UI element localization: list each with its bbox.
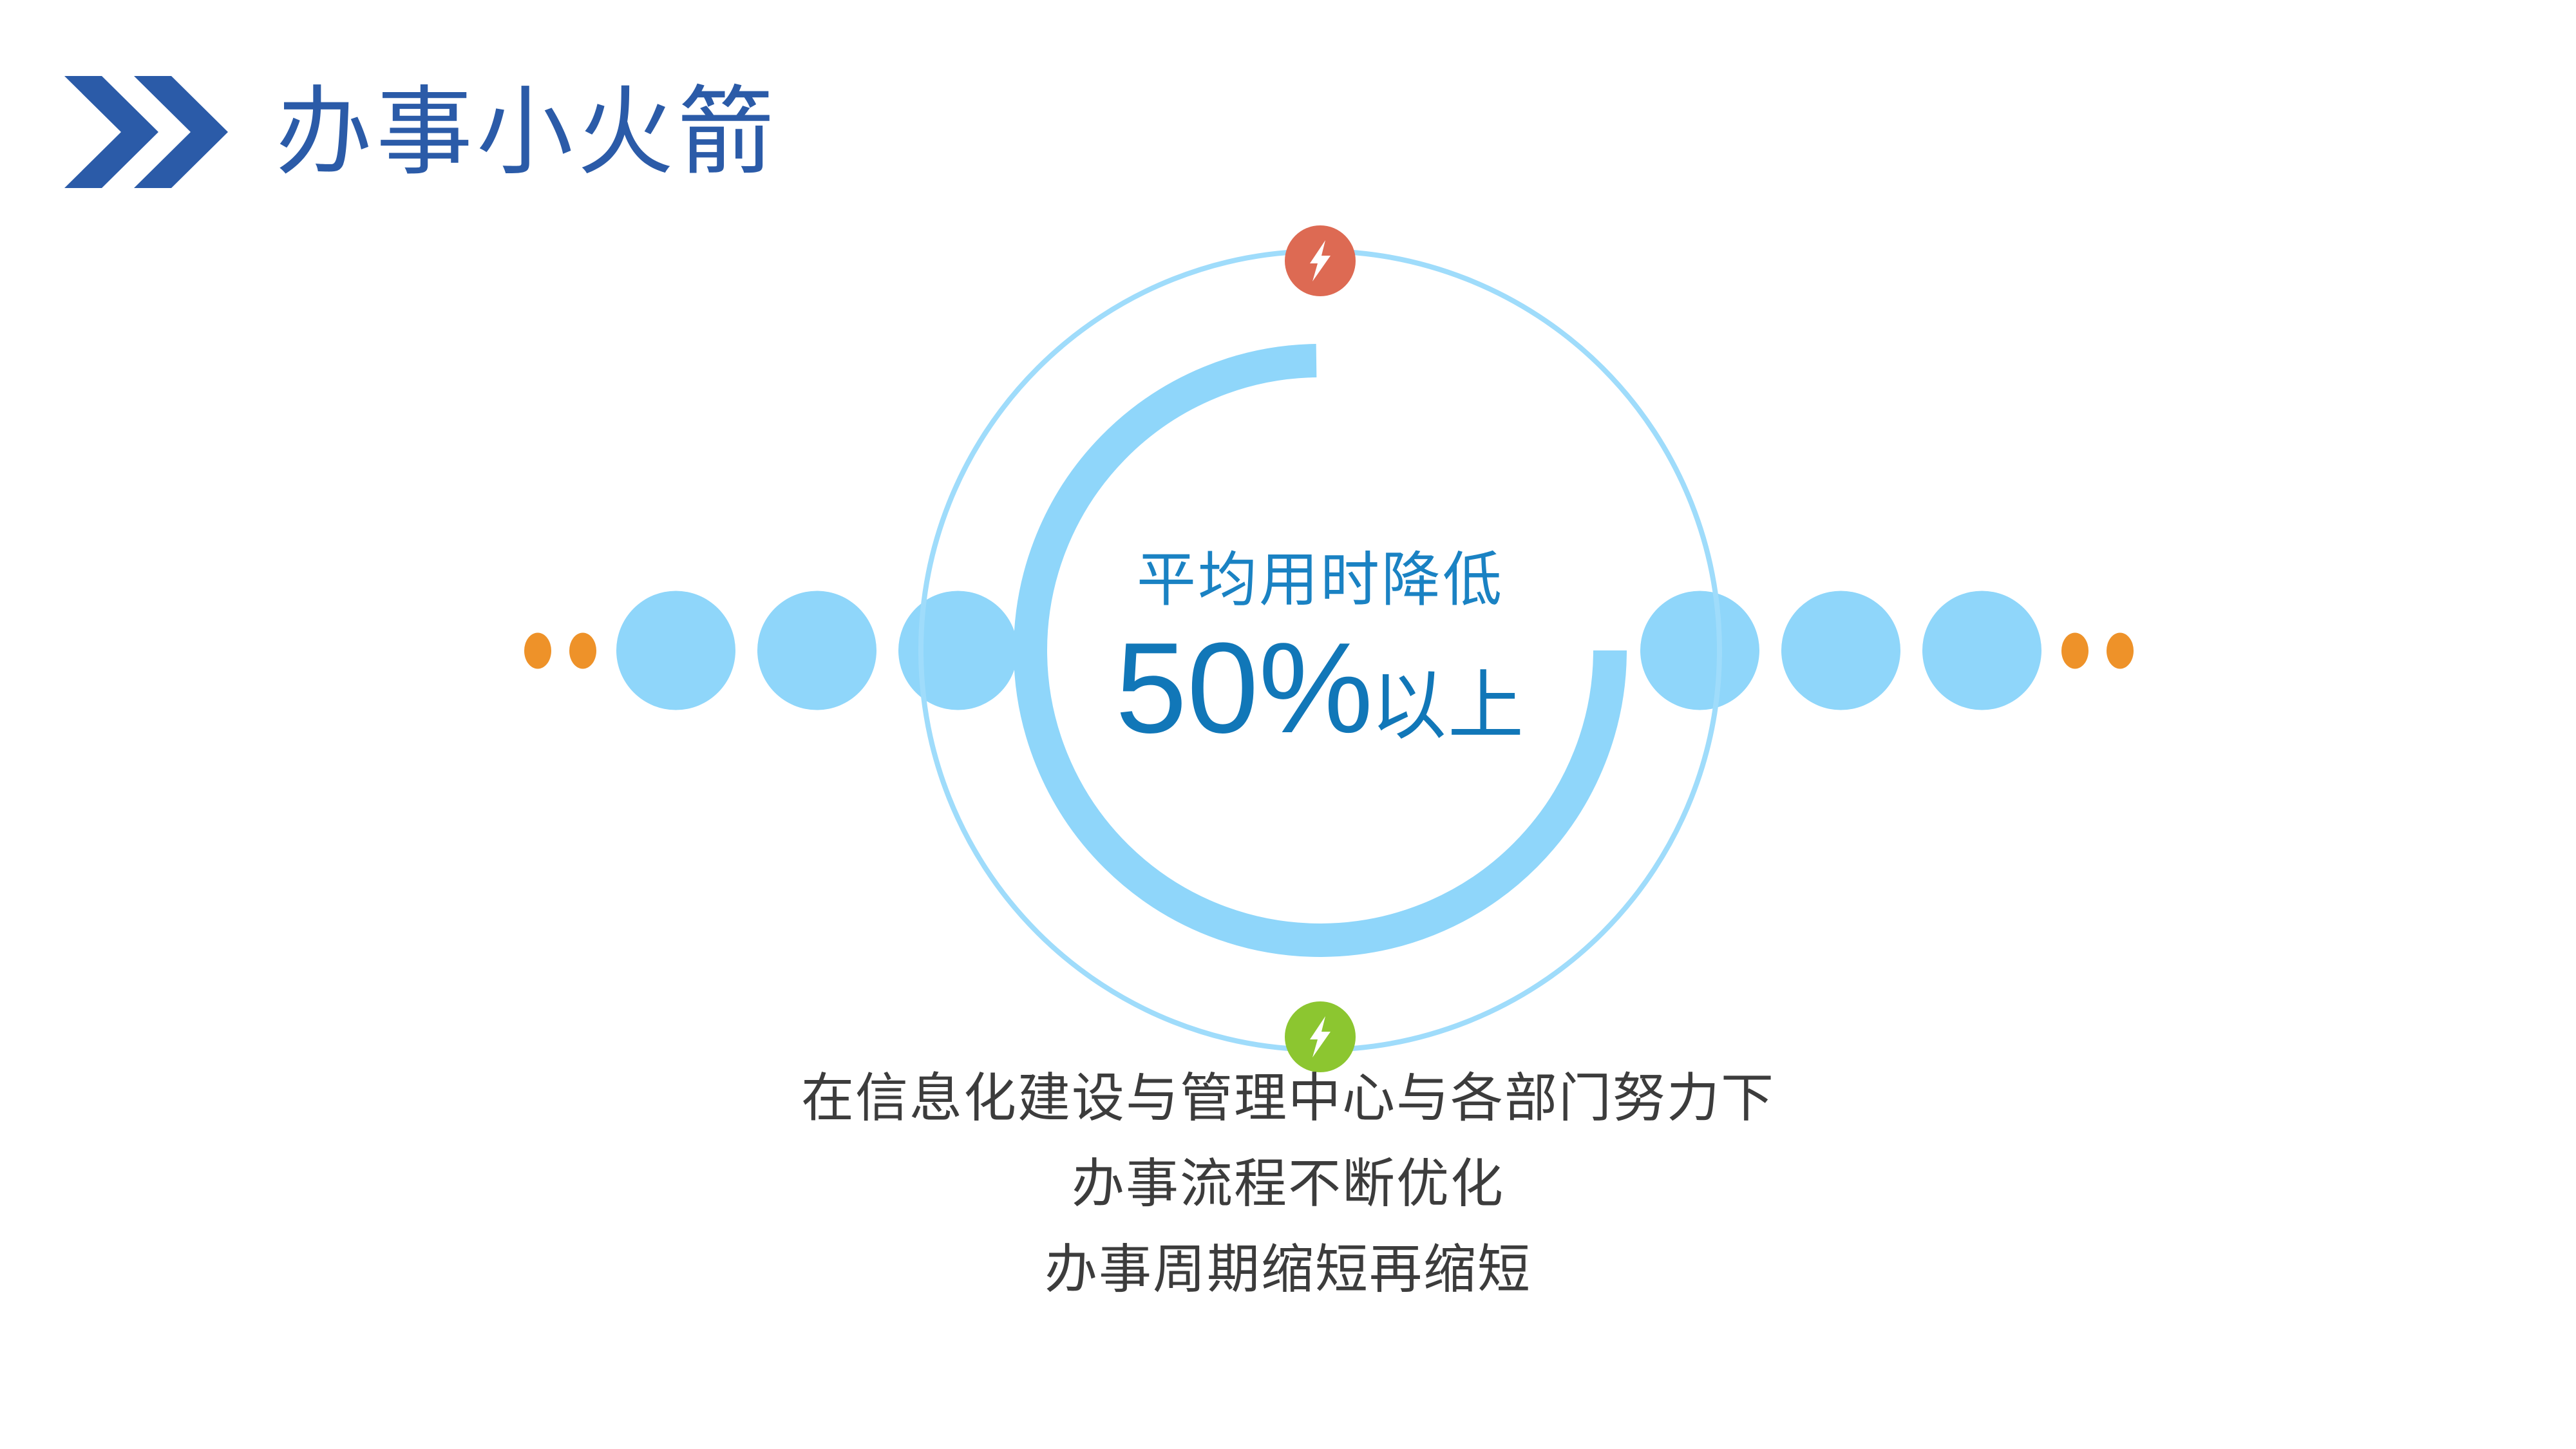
lightning-bolt-icon [1303, 1016, 1337, 1057]
ring-svg [882, 213, 1758, 1088]
small-dot [569, 632, 596, 668]
lightning-badge-top [1285, 225, 1356, 296]
slide-header: 办事小火箭 [64, 71, 778, 193]
small-dot [2061, 632, 2088, 668]
caption-line: 办事周期缩短再缩短 [0, 1227, 2576, 1313]
double-chevron-right-icon [64, 71, 232, 193]
small-dot [524, 632, 551, 668]
caption-block: 在信息化建设与管理中心与各部门努力下 办事流程不断优化 办事周期缩短再缩短 [0, 1056, 2576, 1312]
big-dot [757, 591, 876, 710]
caption-line: 在信息化建设与管理中心与各部门努力下 [0, 1056, 2576, 1142]
big-dot [1922, 591, 2041, 710]
page-title: 办事小火箭 [276, 84, 778, 180]
lightning-bolt-icon [1303, 240, 1337, 281]
big-dot [616, 591, 735, 710]
caption-line: 办事流程不断优化 [0, 1142, 2576, 1227]
small-dot [2107, 632, 2134, 668]
big-dot [1781, 591, 1900, 710]
progress-ring-graphic [882, 213, 1758, 1088]
inner-arc-main [1030, 361, 1610, 940]
